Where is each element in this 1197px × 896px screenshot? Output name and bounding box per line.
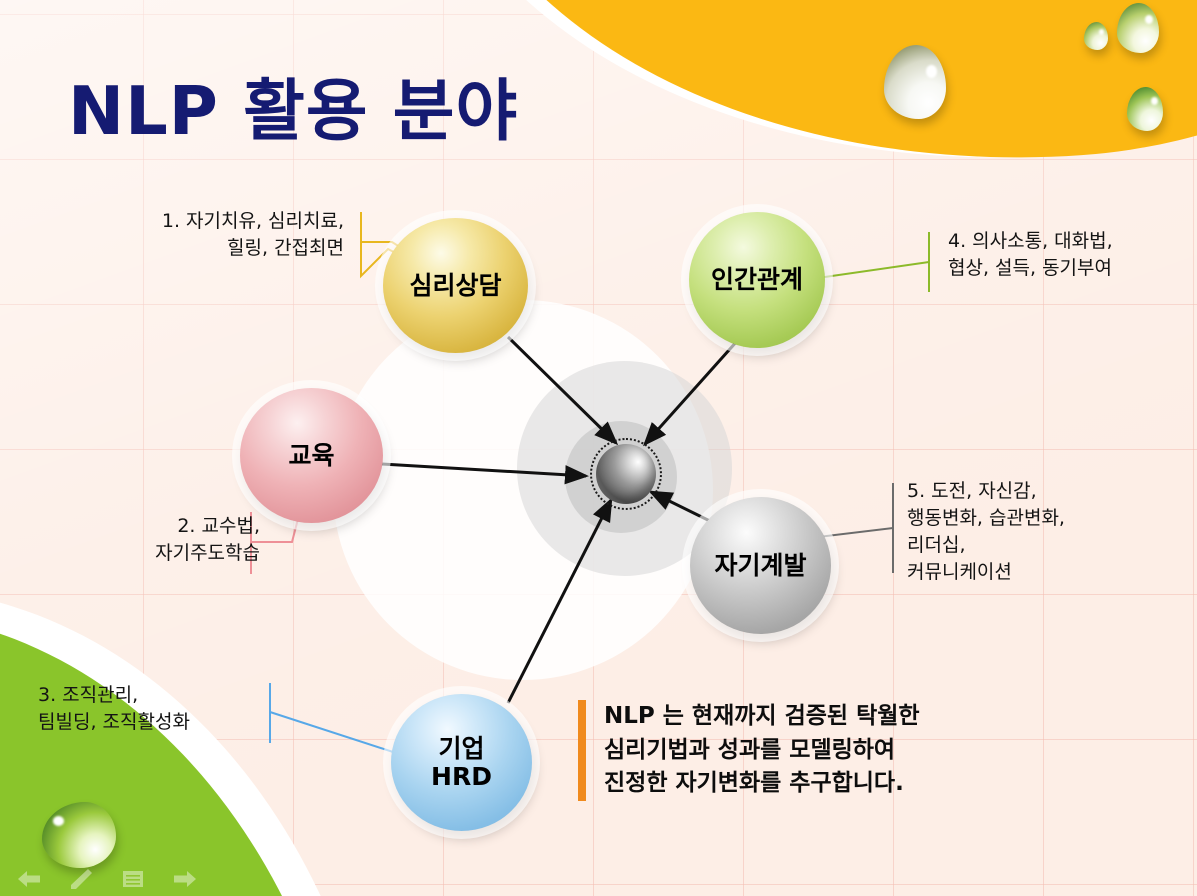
center-hub-sphere	[596, 444, 656, 504]
node-label-self: 자기계발	[714, 552, 806, 580]
node-label-psy: 심리상담	[409, 272, 501, 300]
callout-text-5: 5. 도전, 자신감, 행동변화, 습관변화, 리더십, 커뮤니케이션	[907, 478, 1157, 586]
callout-text-4: 4. 의사소통, 대화법, 협상, 설득, 동기부여	[948, 228, 1186, 282]
node-sphere-hrd[interactable]: 기업 HRD	[391, 694, 532, 831]
node-sphere-rel[interactable]: 인간관계	[689, 212, 825, 348]
node-label-hrd: 기업 HRD	[431, 735, 492, 791]
node-label-rel: 인간관계	[711, 266, 803, 294]
summary-accent-bar	[578, 700, 586, 801]
callout-text-3: 3. 조직관리, 팀빌딩, 조직활성화	[38, 682, 266, 736]
callout-text-1: 1. 자기치유, 심리치료, 힐링, 간접최면	[92, 208, 344, 262]
node-sphere-edu[interactable]: 교육	[240, 388, 383, 523]
node-sphere-psy[interactable]: 심리상담	[383, 218, 528, 353]
spoke-edu	[382, 464, 586, 476]
callout-text-2: 2. 교수법, 자기주도학습	[72, 513, 260, 567]
spoke-self	[651, 492, 716, 524]
slide-canvas: NLP 활용 분야	[0, 0, 1197, 896]
spoke-rel	[645, 340, 738, 444]
summary-text: NLP 는 현재까지 검증된 탁월한 심리기법과 성과를 모델링하여 진정한 자…	[604, 700, 920, 801]
node-sphere-self[interactable]: 자기계발	[690, 497, 831, 634]
spoke-psy	[508, 337, 616, 443]
center-hub	[590, 438, 662, 510]
spoke-hrd	[508, 500, 611, 703]
summary-block: NLP 는 현재까지 검증된 탁월한 심리기법과 성과를 모델링하여 진정한 자…	[578, 700, 920, 801]
node-label-edu: 교육	[288, 442, 334, 470]
